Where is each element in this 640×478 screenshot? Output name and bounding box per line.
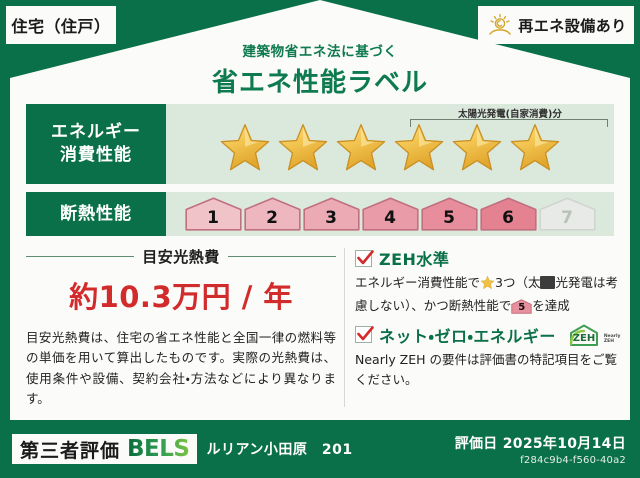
renewable-energy-badge: 再エネ設備あり bbox=[478, 6, 634, 44]
zeh-house-icon: ZEH Nearly ZEH bbox=[566, 323, 621, 347]
cost-value: 約10.3万円 / 年 bbox=[26, 274, 336, 316]
inline-insulation-badge: 5 bbox=[511, 299, 532, 314]
cost-heading: 目安光熱費 bbox=[26, 246, 336, 267]
star-icon bbox=[480, 275, 495, 296]
insulation-level-3: 3 bbox=[303, 197, 360, 231]
inline-insulation-badge-value: 5 bbox=[511, 300, 532, 316]
bels-logo-text: BELS bbox=[127, 436, 189, 462]
solar-annotation-bracket bbox=[410, 119, 608, 127]
title-main: 省エネ性能ラベル bbox=[0, 62, 640, 99]
energy-label-line1: エネルギー bbox=[51, 121, 141, 144]
energy-performance-label: 建築物省エネ法に基づく 省エネ性能ラベル 住宅（住戸） 再エネ設備あり bbox=[0, 0, 640, 478]
lower-section: 目安光熱費 約10.3万円 / 年 目安光熱費は、住宅の省エネ性能と全国一律の燃… bbox=[26, 246, 614, 409]
footer-right: 評価日 2025年10月14日 f284c9b4-f560-40a2 bbox=[455, 433, 626, 466]
insulation-levels-panel: 1234567 bbox=[166, 192, 614, 236]
cost-heading-text: 目安光熱費 bbox=[142, 246, 220, 267]
star-icon bbox=[507, 120, 563, 176]
energy-label-line2: 消費性能 bbox=[60, 144, 132, 167]
insulation-level-scale: 1234567 bbox=[185, 197, 596, 231]
footer: 第三者評価 BELS ルリアン小田原 201 評価日 2025年10月14日 f… bbox=[0, 420, 640, 478]
bels-jp-label: 第三者評価 bbox=[20, 436, 120, 463]
energy-performance-row: エネルギー 消費性能 太陽光発電(自家消費)分 bbox=[26, 96, 614, 184]
energy-performance-label-box: エネルギー 消費性能 bbox=[26, 104, 166, 184]
energy-stars-panel: 太陽光発電(自家消費)分 bbox=[166, 104, 614, 184]
check-head: ネット・ゼロ・エネルギー ZEH Nearly ZEH bbox=[355, 323, 620, 347]
check-block-net-zero: ネット・ゼロ・エネルギー ZEH Nearly ZEH bbox=[355, 323, 620, 391]
checkmark-icon[interactable] bbox=[355, 250, 372, 267]
star-icon bbox=[449, 120, 505, 176]
zeh-tiny-line2: ZEH bbox=[604, 339, 614, 344]
renewable-badge-label: 再エネ設備あり bbox=[518, 15, 627, 36]
bels-badge: 第三者評価 BELS bbox=[12, 434, 197, 464]
insulation-level-7: 7 bbox=[539, 197, 596, 231]
star-icon bbox=[391, 120, 447, 176]
check-title-net-zero: ネット・ゼロ・エネルギー bbox=[379, 323, 556, 347]
zeh-body-part1: エネルギー消費性能で bbox=[355, 275, 480, 290]
insulation-level-2: 2 bbox=[244, 197, 301, 231]
evaluation-date: 評価日 2025年10月14日 bbox=[455, 433, 626, 453]
rule-left bbox=[26, 256, 134, 258]
insulation-level-4: 4 bbox=[362, 197, 419, 231]
zeh-body-part4: を達成 bbox=[532, 298, 570, 313]
zeh-body-part2: 3つ（太 bbox=[495, 275, 540, 290]
rule-right bbox=[228, 256, 336, 258]
checkmark-icon[interactable] bbox=[355, 326, 372, 343]
insulation-performance-row: 断熱性能 1234567 bbox=[26, 192, 614, 236]
zeh-logo-tiny-text: Nearly ZEH bbox=[604, 334, 621, 346]
insulation-level-6: 6 bbox=[480, 197, 537, 231]
insulation-level-1: 1 bbox=[185, 197, 242, 231]
building-type-badge: 住宅（住戸） bbox=[6, 6, 116, 44]
cost-column: 目安光熱費 約10.3万円 / 年 目安光熱費は、住宅の省エネ性能と全国一律の燃… bbox=[26, 246, 344, 409]
solar-annotation-label: 太陽光発電(自家消費)分 bbox=[412, 106, 608, 120]
property-name: ルリアン小田原 201 bbox=[206, 439, 352, 459]
checks-column: ZEH水準 エネルギー消費性能で 3つ（太光発電は考慮しない）、かつ断熱性能で … bbox=[355, 246, 620, 409]
check-head: ZEH水準 bbox=[355, 246, 620, 270]
evaluation-id: f284c9b4-f560-40a2 bbox=[455, 455, 626, 466]
svg-text:ZEH: ZEH bbox=[573, 333, 595, 344]
star-icon bbox=[217, 120, 273, 176]
insulation-level-5: 5 bbox=[421, 197, 478, 231]
cost-note: 目安光熱費は、住宅の省エネ性能と全国一律の燃料等の単価を用いて算出したものです。… bbox=[26, 328, 336, 409]
check-title-zeh-level: ZEH水準 bbox=[379, 246, 449, 270]
redacted-block bbox=[540, 276, 555, 289]
check-block-zeh-level: ZEH水準 エネルギー消費性能で 3つ（太光発電は考慮しない）、かつ断熱性能で … bbox=[355, 246, 620, 317]
check-body-net-zero: Nearly ZEH の要件は評価書の特記項目をご覧ください。 bbox=[355, 350, 620, 391]
title-block: 建築物省エネ法に基づく 省エネ性能ラベル bbox=[0, 40, 640, 99]
column-divider bbox=[344, 248, 345, 407]
sun-icon bbox=[487, 13, 513, 37]
check-body-zeh-level: エネルギー消費性能で 3つ（太光発電は考慮しない）、かつ断熱性能で 5 を達成 bbox=[355, 273, 620, 317]
star-icon bbox=[333, 120, 389, 176]
main-card: エネルギー 消費性能 太陽光発電(自家消費)分 断熱性能 1234567 目安光… bbox=[10, 96, 630, 420]
star-rating bbox=[217, 120, 563, 176]
insulation-label-box: 断熱性能 bbox=[26, 192, 166, 236]
star-icon bbox=[275, 120, 331, 176]
